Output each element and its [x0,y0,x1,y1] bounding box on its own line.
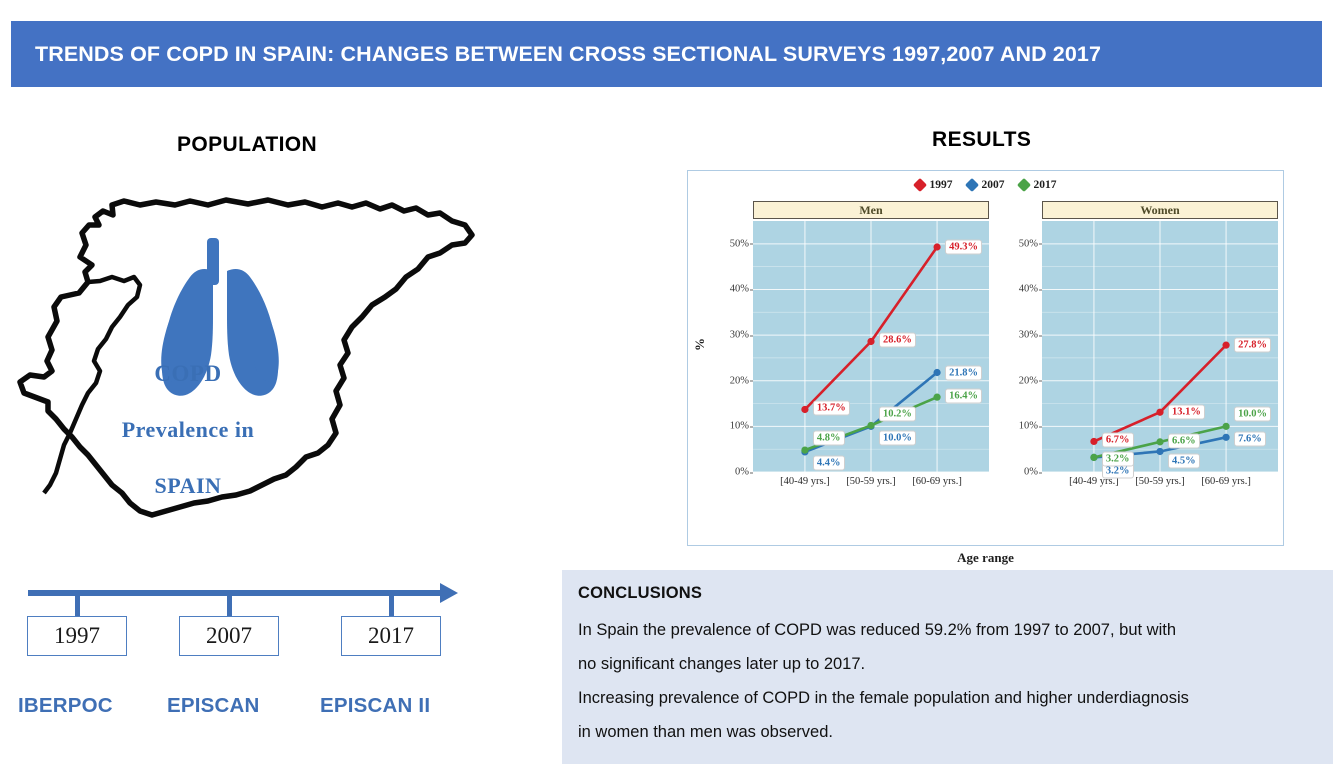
timeline-stem [227,594,232,616]
poster-title: TRENDS OF COPD IN SPAIN: CHANGES BETWEEN… [11,42,1101,67]
conclusions-line: in women than men was observed. [578,715,1317,749]
y-tick-label: 40% [730,284,749,295]
panel-title: Women [1140,203,1179,218]
legend-marker-icon [1016,178,1030,192]
data-point [1156,448,1163,455]
data-label: 28.6% [879,333,916,348]
results-chart: 1997 2007 2017 % Men 0%10%20%30%40%50%[4… [687,170,1284,546]
legend-label: 1997 [930,179,953,191]
data-point [1090,438,1097,445]
data-label: 13.7% [813,401,850,416]
conclusions-box: CONCLUSIONS In Spain the prevalence of C… [562,570,1333,764]
results-section-heading: RESULTS [932,128,1031,152]
x-tick-label: [60-69 yrs.] [1201,476,1251,487]
population-section-heading: POPULATION [177,133,317,157]
data-label: 10.2% [879,407,916,422]
poster-root: TRENDS OF COPD IN SPAIN: CHANGES BETWEEN… [0,0,1333,764]
data-label: 4.4% [813,455,845,470]
x-tick-label: [50-59 yrs.] [1135,476,1185,487]
data-point [933,243,940,250]
timeline-stem [75,594,80,616]
data-label: 10.0% [879,431,916,446]
timeline-year-box: 1997 [27,616,127,656]
y-tick-label: 10% [730,421,749,432]
data-point [1222,423,1229,430]
y-tick-label: 10% [1019,421,1038,432]
x-tick-label: [50-59 yrs.] [846,476,896,487]
data-label: 27.8% [1234,338,1271,353]
timeline-stem [389,594,394,616]
y-tick-label: 40% [1019,284,1038,295]
conclusions-line: no significant changes later up to 2017. [578,647,1317,681]
data-label: 3.2% [1102,452,1134,467]
timeline-study-label: IBERPOC [18,694,113,718]
timeline-axis [28,590,448,596]
legend-item-2007: 2007 [967,179,1005,191]
data-point [1090,454,1097,461]
plot-svg [753,221,989,472]
y-tick-label: 0% [735,467,749,478]
chart-panel-men: Men 0%10%20%30%40%50%[40-49 yrs.][50-59 … [710,201,993,511]
x-axis-title: Age range [688,550,1283,566]
timeline-year-box: 2007 [179,616,279,656]
data-point [1156,409,1163,416]
data-label: 7.6% [1234,432,1266,447]
poster-title-bar: TRENDS OF COPD IN SPAIN: CHANGES BETWEEN… [11,21,1322,87]
panel-title: Men [859,203,882,218]
map-label-spain: SPAIN [0,473,438,499]
panel-strip-women: Women [1042,201,1278,219]
panel-strip-men: Men [753,201,989,219]
spain-map-block: COPD Prevalence in SPAIN [0,185,500,560]
map-label-prevalence: Prevalence in [0,417,438,443]
data-point [867,422,874,429]
y-tick-label: 20% [730,375,749,386]
data-label: 6.7% [1102,433,1134,448]
y-tick-label: 30% [730,330,749,341]
data-point [1222,342,1229,349]
timeline-study-label: EPISCAN II [320,694,430,718]
data-point [1156,438,1163,445]
x-tick-label: [60-69 yrs.] [912,476,962,487]
plot-area-women: 0%10%20%30%40%50%[40-49 yrs.][50-59 yrs.… [1042,221,1278,472]
data-label: 4.8% [813,431,845,446]
data-label: 21.8% [945,365,982,380]
conclusions-line: Increasing prevalence of COPD in the fem… [578,681,1317,715]
data-point [801,406,808,413]
data-label: 4.5% [1168,454,1200,469]
data-label: 16.4% [945,389,982,404]
survey-timeline: 1997 IBERPOC 2007 EPISCAN 2017 EPISCAN I… [0,570,500,760]
y-tick-label: 0% [1024,467,1038,478]
data-point [867,338,874,345]
plot-area-men: 0%10%20%30%40%50%[40-49 yrs.][50-59 yrs.… [753,221,989,472]
conclusions-heading: CONCLUSIONS [578,584,1317,603]
chart-panel-women: Women 0%10%20%30%40%50%[40-49 yrs.][50-5… [999,201,1282,511]
chart-legend: 1997 2007 2017 [688,179,1283,191]
data-point [1222,434,1229,441]
y-tick-label: 30% [1019,330,1038,341]
y-tick-label: 50% [730,238,749,249]
data-point [933,394,940,401]
data-point [801,446,808,453]
legend-label: 2017 [1034,179,1057,191]
legend-marker-icon [964,178,978,192]
timeline-arrow-icon [440,583,458,603]
timeline-year-box: 2017 [341,616,441,656]
data-label: 6.6% [1168,433,1200,448]
y-tick-label: 20% [1019,375,1038,386]
x-tick-label: [40-49 yrs.] [780,476,830,487]
y-axis-title: % [692,338,708,351]
data-label: 49.3% [945,240,982,255]
legend-item-1997: 1997 [915,179,953,191]
legend-item-2017: 2017 [1019,179,1057,191]
legend-label: 2007 [982,179,1005,191]
data-label: 10.0% [1234,407,1271,422]
timeline-study-label: EPISCAN [167,694,260,718]
legend-marker-icon [912,178,926,192]
y-tick-label: 50% [1019,238,1038,249]
data-label: 13.1% [1168,405,1205,420]
data-point [933,369,940,376]
chart-panels: % Men 0%10%20%30%40%50%[40-49 yrs.][50-5… [688,201,1283,511]
map-label-copd: COPD [0,361,438,387]
conclusions-line: In Spain the prevalence of COPD was redu… [578,613,1317,647]
